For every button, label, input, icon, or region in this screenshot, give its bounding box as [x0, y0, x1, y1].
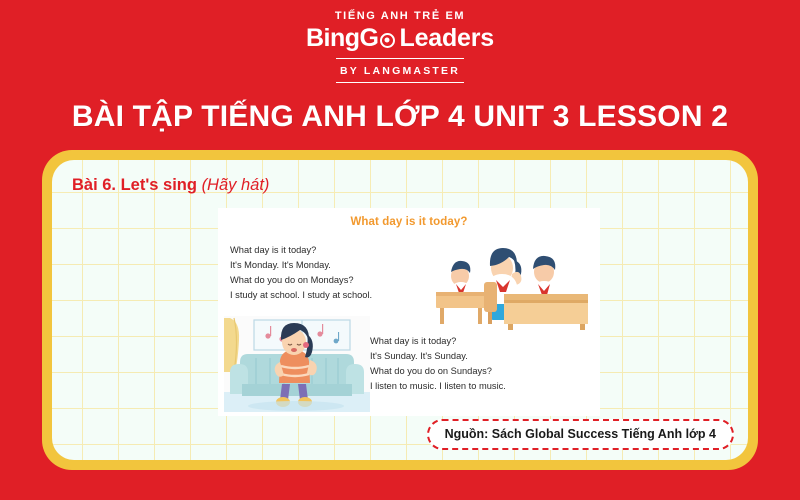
verse-line: What day is it today? — [370, 334, 506, 349]
brand-byline-wrap: BY LANGMASTER — [336, 58, 464, 83]
brand-logo: BingG Leaders — [0, 24, 800, 53]
verse-line: I listen to music. I listen to music. — [370, 379, 506, 394]
song-verse-1: What day is it today? It's Monday. It's … — [230, 243, 372, 303]
exercise-card: Bài 6. Let's sing (Hãy hát) What day is … — [42, 150, 758, 470]
exercise-translation: (Hãy hát) — [202, 176, 270, 194]
page-title: BÀI TẬP TIẾNG ANH LỚP 4 UNIT 3 LESSON 2 — [0, 100, 800, 134]
verse-line: What do you do on Mondays? — [230, 273, 372, 288]
exercise-heading: Bài 6. Let's sing (Hãy hát) — [72, 176, 269, 196]
brand-tagline: TIẾNG ANH TRẺ EM — [0, 11, 800, 22]
lesson-content-card: What day is it today? What day is it tod… — [218, 208, 600, 416]
brand-header: TIẾNG ANH TRẺ EM BingG Leaders BY LANGMA… — [0, 0, 800, 83]
verse-line: I study at school. I study at school. — [230, 288, 372, 303]
verse-line: What day is it today? — [230, 243, 372, 258]
brand-name-part1: BingG — [306, 24, 379, 53]
verse-line: It's Monday. It's Monday. — [230, 258, 372, 273]
source-badge: Nguồn: Sách Global Success Tiếng Anh lớp… — [427, 419, 734, 451]
verse-line: It's Sunday. It's Sunday. — [370, 349, 506, 364]
girl-listening-to-music-on-sofa-illustration — [224, 316, 370, 412]
exercise-card-inner: Bài 6. Let's sing (Hãy hát) What day is … — [52, 160, 748, 460]
brand-name-part2: Leaders — [400, 24, 495, 53]
brand-byline: BY LANGMASTER — [336, 65, 464, 77]
registered-circle-icon — [380, 33, 395, 48]
verse-line: What do you do on Sundays? — [370, 364, 506, 379]
song-title: What day is it today? — [218, 208, 600, 228]
song-verse-2: What day is it today? It's Sunday. It's … — [370, 334, 506, 394]
students-at-desks-illustration — [432, 230, 592, 330]
exercise-label: Bài 6. Let's sing — [72, 176, 197, 194]
